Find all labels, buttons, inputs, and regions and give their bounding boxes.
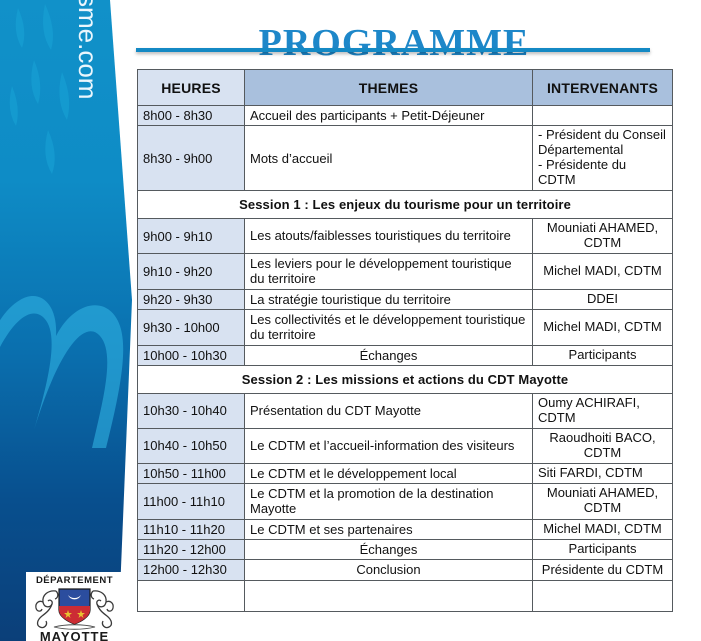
table-row: 9h10 - 9h20Les leviers pour le développe… xyxy=(138,253,673,289)
empty-row xyxy=(138,580,673,611)
cell-speaker: Raoudhoiti BACO, CDTM xyxy=(533,428,673,463)
table-row: 11h00 - 11h10Le CDTM et la promotion de … xyxy=(138,484,673,520)
page-title: PROGRAMME xyxy=(136,21,652,65)
session-header-row: Session 2 : Les missions et actions du C… xyxy=(138,365,673,393)
table-row: 9h30 - 10h00Les collectivités et le déve… xyxy=(138,309,673,345)
column-header-themes: THEMES xyxy=(245,70,533,106)
table-row: 11h20 - 12h00ÉchangesParticipants xyxy=(138,539,673,559)
empty-cell xyxy=(245,580,533,611)
table-row: 12h00 - 12h30ConclusionPrésidente du CDT… xyxy=(138,560,673,580)
cell-theme: Le CDTM et l’accueil-information des vis… xyxy=(245,428,533,463)
cell-speaker: Mouniati AHAMED, CDTM xyxy=(533,219,673,254)
cell-hours: 9h20 - 9h30 xyxy=(138,289,245,309)
session-label: Session 1 : Les enjeux du tourisme pour … xyxy=(138,191,673,219)
mayotte-coat-of-arms-icon xyxy=(26,586,123,630)
title-divider-rule xyxy=(136,48,650,52)
cell-theme: Accueil des participants + Petit-Déjeune… xyxy=(245,106,533,126)
table-row: 10h30 - 10h40Présentation du CDT Mayotte… xyxy=(138,393,673,428)
empty-cell xyxy=(533,580,673,611)
cell-speaker: Siti FARDI, CDTM xyxy=(533,463,673,483)
table-row: 10h00 - 10h30ÉchangesParticipants xyxy=(138,345,673,365)
cell-theme: Les leviers pour le développement touris… xyxy=(245,253,533,289)
column-header-hours: HEURES xyxy=(138,70,245,106)
cell-speaker: Michel MADI, CDTM xyxy=(533,253,673,289)
session-header-row: Session 1 : Les enjeux du tourisme pour … xyxy=(138,191,673,219)
cell-hours: 10h50 - 11h00 xyxy=(138,463,245,483)
session-label: Session 2 : Les missions et actions du C… xyxy=(138,365,673,393)
cell-speaker xyxy=(533,106,673,126)
cell-hours: 12h00 - 12h30 xyxy=(138,560,245,580)
logo-top-label: DÉPARTEMENT xyxy=(26,575,123,586)
cell-theme: Conclusion xyxy=(245,560,533,580)
table-row: 9h20 - 9h30La stratégie touristique du t… xyxy=(138,289,673,309)
cell-hours: 8h00 - 8h30 xyxy=(138,106,245,126)
table-row: 10h40 - 10h50Le CDTM et l’accueil-inform… xyxy=(138,428,673,463)
cell-hours: 8h30 - 9h00 xyxy=(138,126,245,191)
cell-hours: 10h30 - 10h40 xyxy=(138,393,245,428)
cell-theme: La stratégie touristique du territoire xyxy=(245,289,533,309)
cell-speaker: Oumy ACHIRAFI, CDTM xyxy=(533,393,673,428)
cell-theme: Le CDTM et la promotion de la destinatio… xyxy=(245,484,533,520)
decorative-side-band: sme.com xyxy=(0,0,145,641)
table-body: 8h00 - 8h30Accueil des participants + Pe… xyxy=(138,106,673,612)
cell-theme: Échanges xyxy=(245,345,533,365)
logo-bottom-label: MAYOTTE xyxy=(26,629,123,641)
table-row: 8h30 - 9h00Mots d’accueil- Président du … xyxy=(138,126,673,191)
cell-theme: Présentation du CDT Mayotte xyxy=(245,393,533,428)
cell-theme: Les collectivités et le développement to… xyxy=(245,309,533,345)
cell-speaker: - Président du Conseil Départemental - P… xyxy=(533,126,673,191)
cell-theme: Les atouts/faiblesses touristiques du te… xyxy=(245,219,533,254)
cell-hours: 10h00 - 10h30 xyxy=(138,345,245,365)
cell-speaker: Présidente du CDTM xyxy=(533,560,673,580)
empty-cell xyxy=(138,580,245,611)
cell-hours: 9h10 - 9h20 xyxy=(138,253,245,289)
cell-speaker: Mouniati AHAMED, CDTM xyxy=(533,484,673,520)
cell-hours: 9h00 - 9h10 xyxy=(138,219,245,254)
table-row: 8h00 - 8h30Accueil des participants + Pe… xyxy=(138,106,673,126)
cell-hours: 11h10 - 11h20 xyxy=(138,519,245,539)
cell-speaker: Participants xyxy=(533,345,673,365)
cell-speaker: Michel MADI, CDTM xyxy=(533,309,673,345)
cell-speaker: Michel MADI, CDTM xyxy=(533,519,673,539)
cell-hours: 9h30 - 10h00 xyxy=(138,309,245,345)
cell-hours: 11h20 - 12h00 xyxy=(138,539,245,559)
cell-theme: Échanges xyxy=(245,539,533,559)
website-url-text: sme.com xyxy=(72,0,103,99)
cell-theme: Mots d’accueil xyxy=(245,126,533,191)
table-header-row: HEURES THEMES INTERVENANTS xyxy=(138,70,673,106)
table-row: 9h00 - 9h10Les atouts/faiblesses tourist… xyxy=(138,219,673,254)
cell-speaker: DDEI xyxy=(533,289,673,309)
programme-table: HEURES THEMES INTERVENANTS 8h00 - 8h30Ac… xyxy=(137,69,673,612)
cell-theme: Le CDTM et le développement local xyxy=(245,463,533,483)
table-row: 11h10 - 11h20Le CDTM et ses partenairesM… xyxy=(138,519,673,539)
cell-hours: 11h00 - 11h10 xyxy=(138,484,245,520)
cell-speaker: Participants xyxy=(533,539,673,559)
table-row: 10h50 - 11h00Le CDTM et le développement… xyxy=(138,463,673,483)
departement-mayotte-logo: DÉPARTEMENT xyxy=(26,572,123,641)
cell-theme: Le CDTM et ses partenaires xyxy=(245,519,533,539)
column-header-speakers: INTERVENANTS xyxy=(533,70,673,106)
cell-hours: 10h40 - 10h50 xyxy=(138,428,245,463)
side-band-graphic xyxy=(0,0,145,641)
